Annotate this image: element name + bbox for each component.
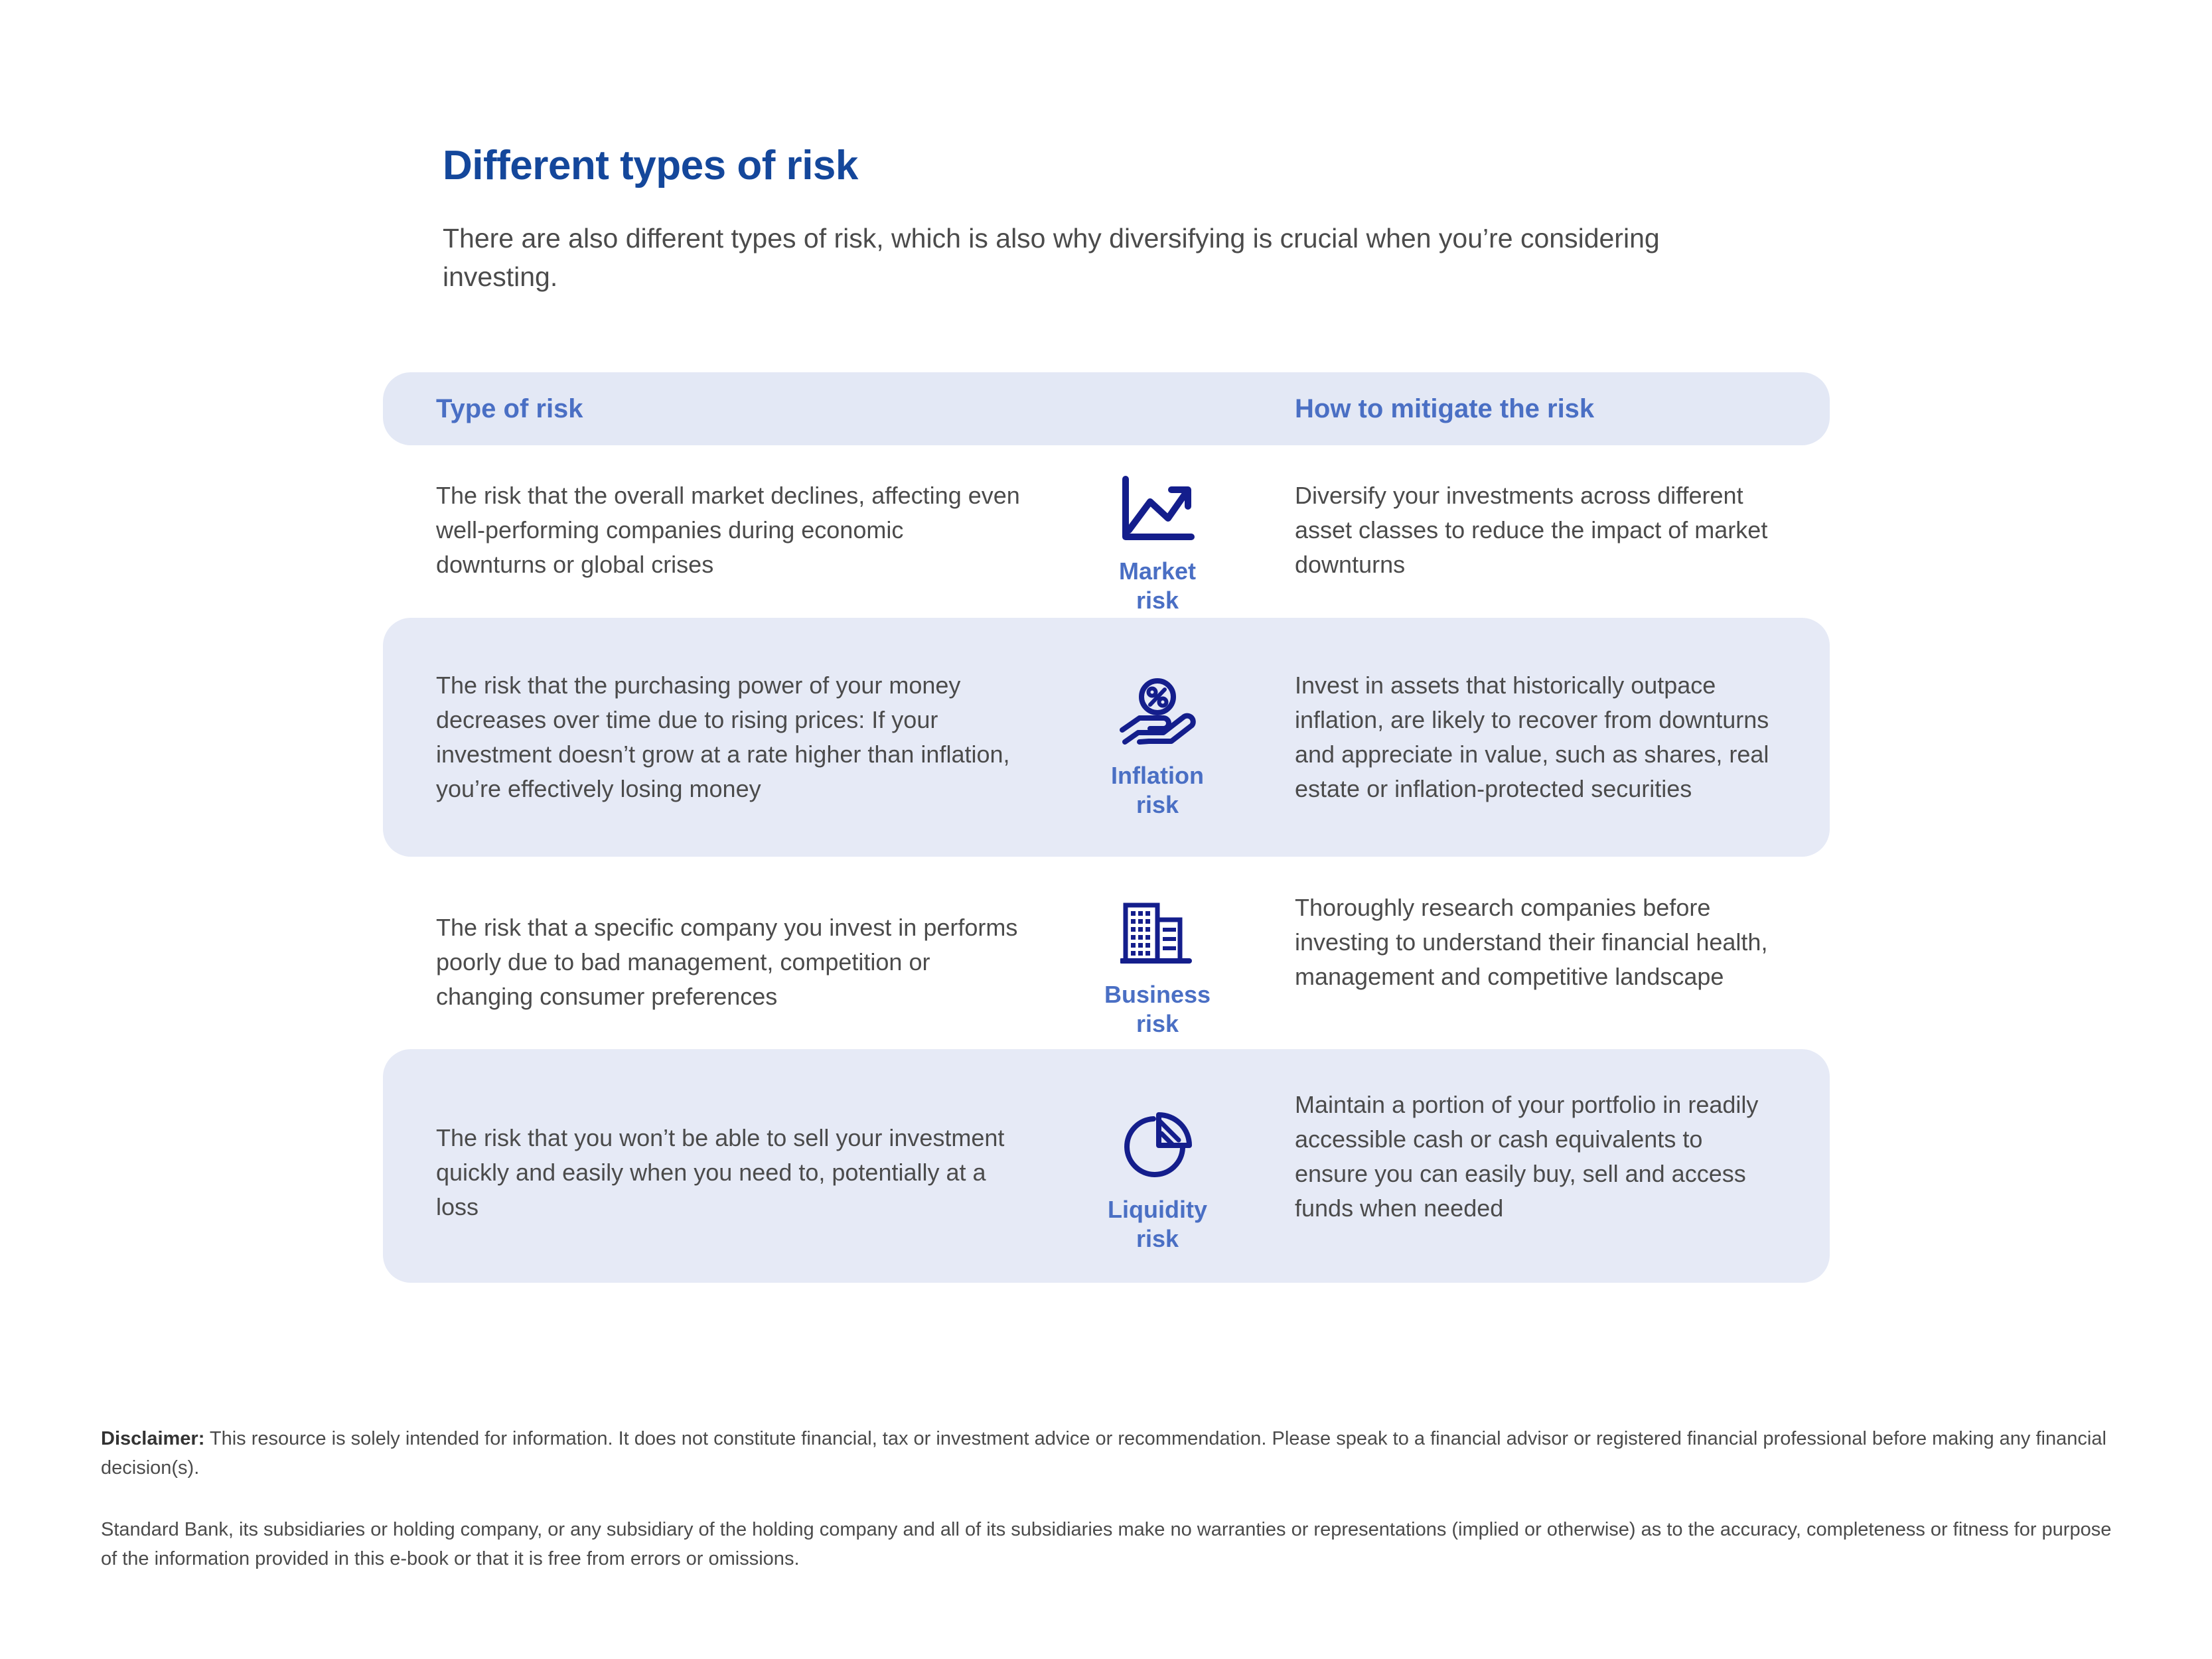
page-intro: There are also different types of risk, …: [443, 219, 1724, 296]
table-row: The risk that the overall market decline…: [383, 445, 1830, 615]
risk-label: Inflationrisk: [1111, 761, 1204, 820]
table-row: The risk that a specific company you inv…: [383, 857, 1830, 1049]
pie-chart-slice-icon: [1122, 1111, 1193, 1186]
risk-table: Type of risk How to mitigate the risk Th…: [383, 372, 1830, 1283]
hand-holding-percent-icon: [1116, 677, 1199, 752]
risk-icon-cell: Liquidityrisk: [1020, 1111, 1295, 1254]
disclaimer-label: Disclaimer:: [101, 1428, 204, 1449]
disclaimer-paragraph-2: Standard Bank, its subsidiaries or holdi…: [101, 1516, 2118, 1573]
table-row: The risk that the purchasing power of yo…: [383, 618, 1830, 857]
disclaimer-text-1: This resource is solely intended for inf…: [101, 1428, 2106, 1479]
risk-mitigation: Diversify your investments across differ…: [1295, 478, 1777, 583]
risk-mitigation: Invest in assets that historically outpa…: [1295, 668, 1777, 807]
risk-mitigation: Thoroughly research companies before inv…: [1295, 891, 1777, 995]
risk-description: The risk that the purchasing power of yo…: [436, 668, 1020, 807]
risk-types-page: Different types of risk There are also d…: [0, 0, 2212, 1659]
risk-label: Businessrisk: [1104, 980, 1211, 1039]
risk-description: The risk that a specific company you inv…: [436, 910, 1020, 1015]
risk-label: Liquidityrisk: [1108, 1195, 1207, 1254]
risk-icon-cell: Businessrisk: [1020, 900, 1295, 1039]
risk-description: The risk that the overall market decline…: [436, 478, 1020, 583]
page-title: Different types of risk: [443, 143, 1770, 188]
table-row: The risk that you won’t be able to sell …: [383, 1049, 1830, 1283]
column-header-how-to-mitigate: How to mitigate the risk: [1295, 394, 1594, 424]
risk-icon-cell: Inflationrisk: [1020, 677, 1295, 820]
disclaimer-block: Disclaimer: This resource is solely inte…: [101, 1425, 2118, 1573]
risk-label: Marketrisk: [1119, 557, 1196, 615]
column-header-type-of-risk: Type of risk: [436, 394, 583, 424]
heading-block: Different types of risk There are also d…: [443, 143, 1770, 297]
line-chart-up-icon: [1118, 475, 1197, 547]
office-buildings-icon: [1120, 900, 1195, 971]
risk-icon-cell: Marketrisk: [1020, 475, 1295, 615]
disclaimer-paragraph-1: Disclaimer: This resource is solely inte…: [101, 1425, 2118, 1482]
table-header-row: Type of risk How to mitigate the risk: [383, 372, 1830, 445]
risk-description: The risk that you won’t be able to sell …: [436, 1121, 1020, 1225]
risk-mitigation: Maintain a portion of your portfolio in …: [1295, 1088, 1777, 1226]
